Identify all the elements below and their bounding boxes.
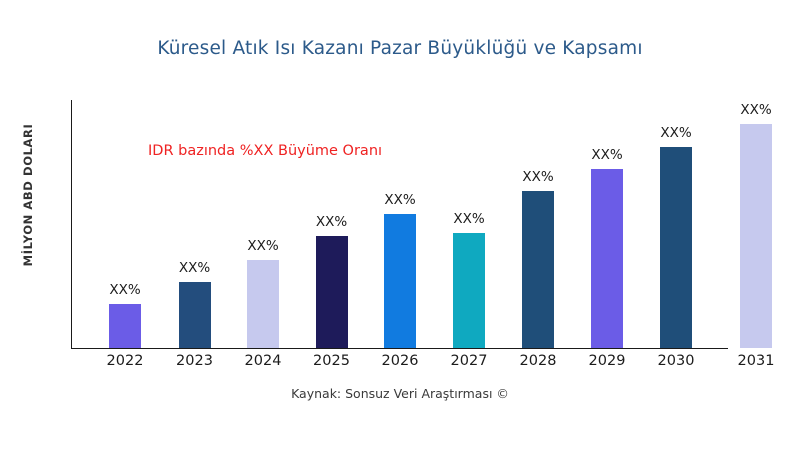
bar-value-label-2029: XX% [591, 147, 622, 163]
bar-2031[interactable] [740, 124, 772, 348]
x-tick-2025: 2025 [313, 353, 350, 369]
bar-2026[interactable] [384, 214, 416, 348]
x-tick-2022: 2022 [107, 353, 144, 369]
plot-area: XX%XX%XX%XX%XX%XX%XX%XX%XX%XX% 202220232… [0, 0, 800, 450]
bar-2025[interactable] [316, 236, 348, 348]
x-tick-2028: 2028 [520, 353, 557, 369]
bar-value-label-2028: XX% [522, 169, 553, 185]
x-tick-2027: 2027 [451, 353, 488, 369]
source-note: Kaynak: Sonsuz Veri Araştırması © [0, 386, 800, 401]
bar-2027[interactable] [453, 233, 485, 348]
bar-value-label-2026: XX% [384, 192, 415, 208]
bar-value-label-2025: XX% [316, 214, 347, 230]
bar-2029[interactable] [591, 169, 623, 348]
bar-value-label-2023: XX% [179, 260, 210, 276]
y-axis-line [71, 100, 72, 349]
bar-2023[interactable] [179, 282, 211, 348]
bar-value-label-2030: XX% [660, 125, 691, 141]
chart-container: Küresel Atık Isı Kazanı Pazar Büyüklüğü … [0, 0, 800, 450]
x-tick-2026: 2026 [382, 353, 419, 369]
bar-2024[interactable] [247, 260, 279, 348]
bar-value-label-2022: XX% [109, 282, 140, 298]
bar-2028[interactable] [522, 191, 554, 348]
bar-2030[interactable] [660, 147, 692, 348]
bar-value-label-2024: XX% [247, 238, 278, 254]
x-tick-2031: 2031 [738, 353, 775, 369]
x-tick-2024: 2024 [245, 353, 282, 369]
x-tick-2029: 2029 [589, 353, 626, 369]
x-tick-2023: 2023 [176, 353, 213, 369]
bar-value-label-2027: XX% [453, 211, 484, 227]
bar-value-label-2031: XX% [740, 102, 771, 118]
growth-rate-annotation: IDR bazında %XX Büyüme Oranı [148, 143, 382, 159]
bar-2022[interactable] [109, 304, 141, 348]
x-tick-2030: 2030 [658, 353, 695, 369]
